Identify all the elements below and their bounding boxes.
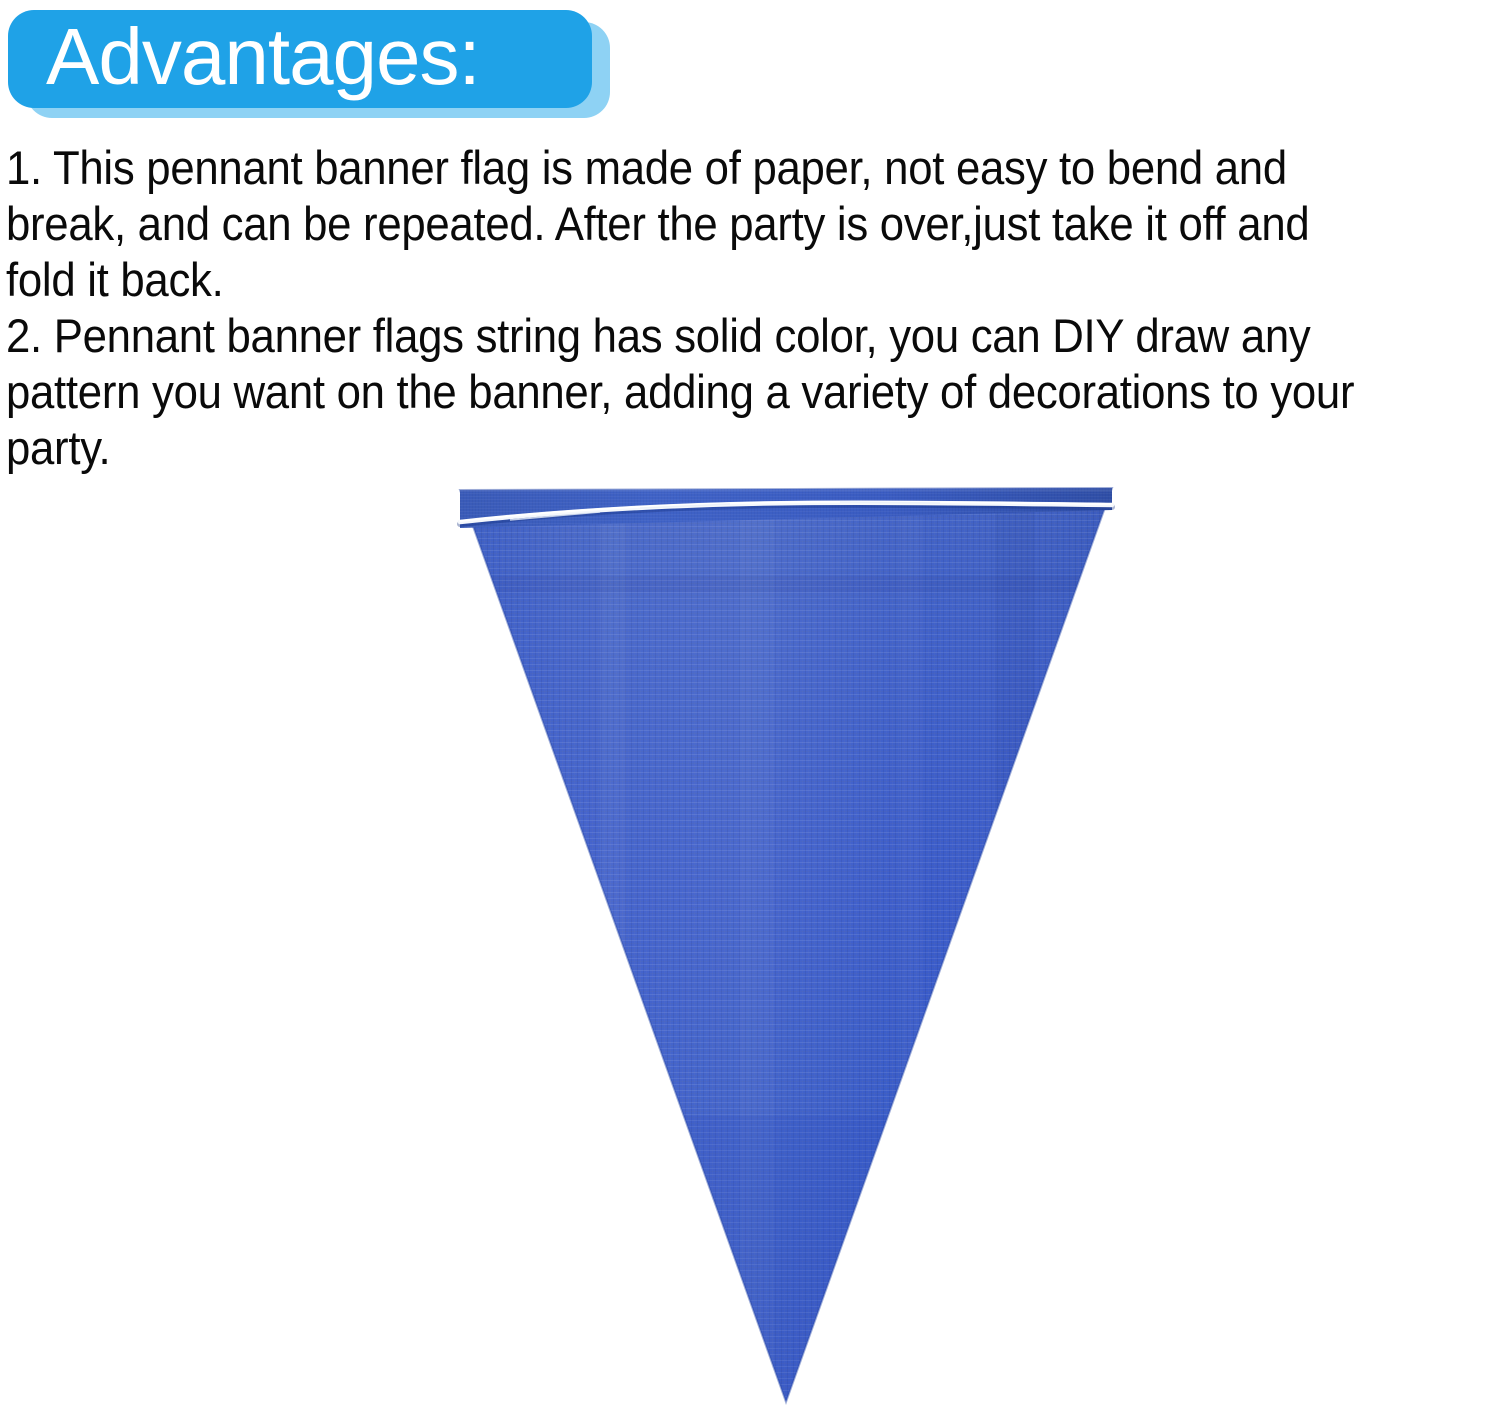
page-title: Advantages: (8, 15, 480, 99)
pennant-body (440, 476, 1140, 1405)
header-area: Advantages: (0, 0, 1500, 128)
advantage-item-2: 2. Pennant banner flags string has solid… (6, 308, 1382, 476)
pennant-header-band (440, 476, 1140, 546)
description-block: 1. This pennant banner flag is made of p… (6, 140, 1486, 476)
advantage-item-1: 1. This pennant banner flag is made of p… (6, 140, 1382, 308)
advantages-badge: Advantages: (8, 10, 592, 108)
hanging-string (460, 502, 1112, 524)
